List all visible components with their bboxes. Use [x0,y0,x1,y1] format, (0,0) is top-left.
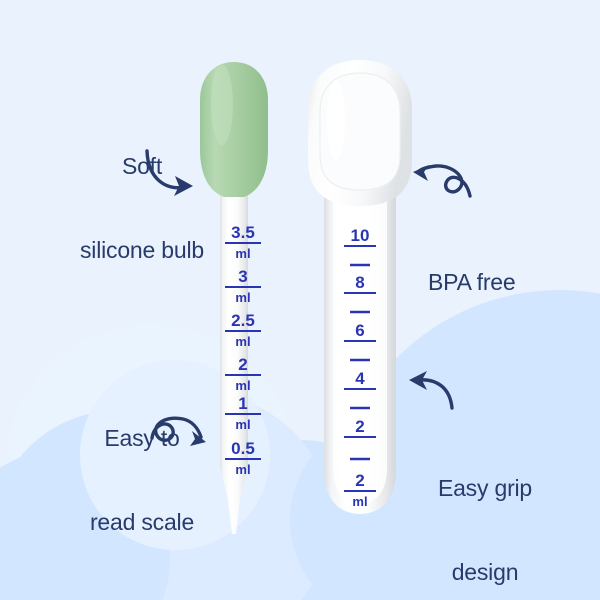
callout-line-2: silicone bulb [62,236,222,264]
callout-line-2: design [410,558,560,586]
callout-line-1: Easy grip [410,474,560,502]
arrow-easy-grip-design [409,371,452,408]
callout-label-easy-grip-design: Easy grip design [410,418,560,600]
callout-line-2: read scale [62,508,222,536]
callout-line-1: BPA free [428,268,578,296]
callout-line-1: Easy to [62,424,222,452]
product-infographic: 3.5 ml 3 ml 2.5 ml 2 ml 1 m [0,0,600,600]
arrow-bpa-free [413,165,470,196]
callout-label-easy-read-scale: Easy to read scale [62,368,222,592]
callout-label-soft-silicone-bulb: Soft silicone bulb [62,96,222,320]
callout-line-1: Soft [62,152,222,180]
callout-label-bpa-free: BPA free [428,212,578,352]
